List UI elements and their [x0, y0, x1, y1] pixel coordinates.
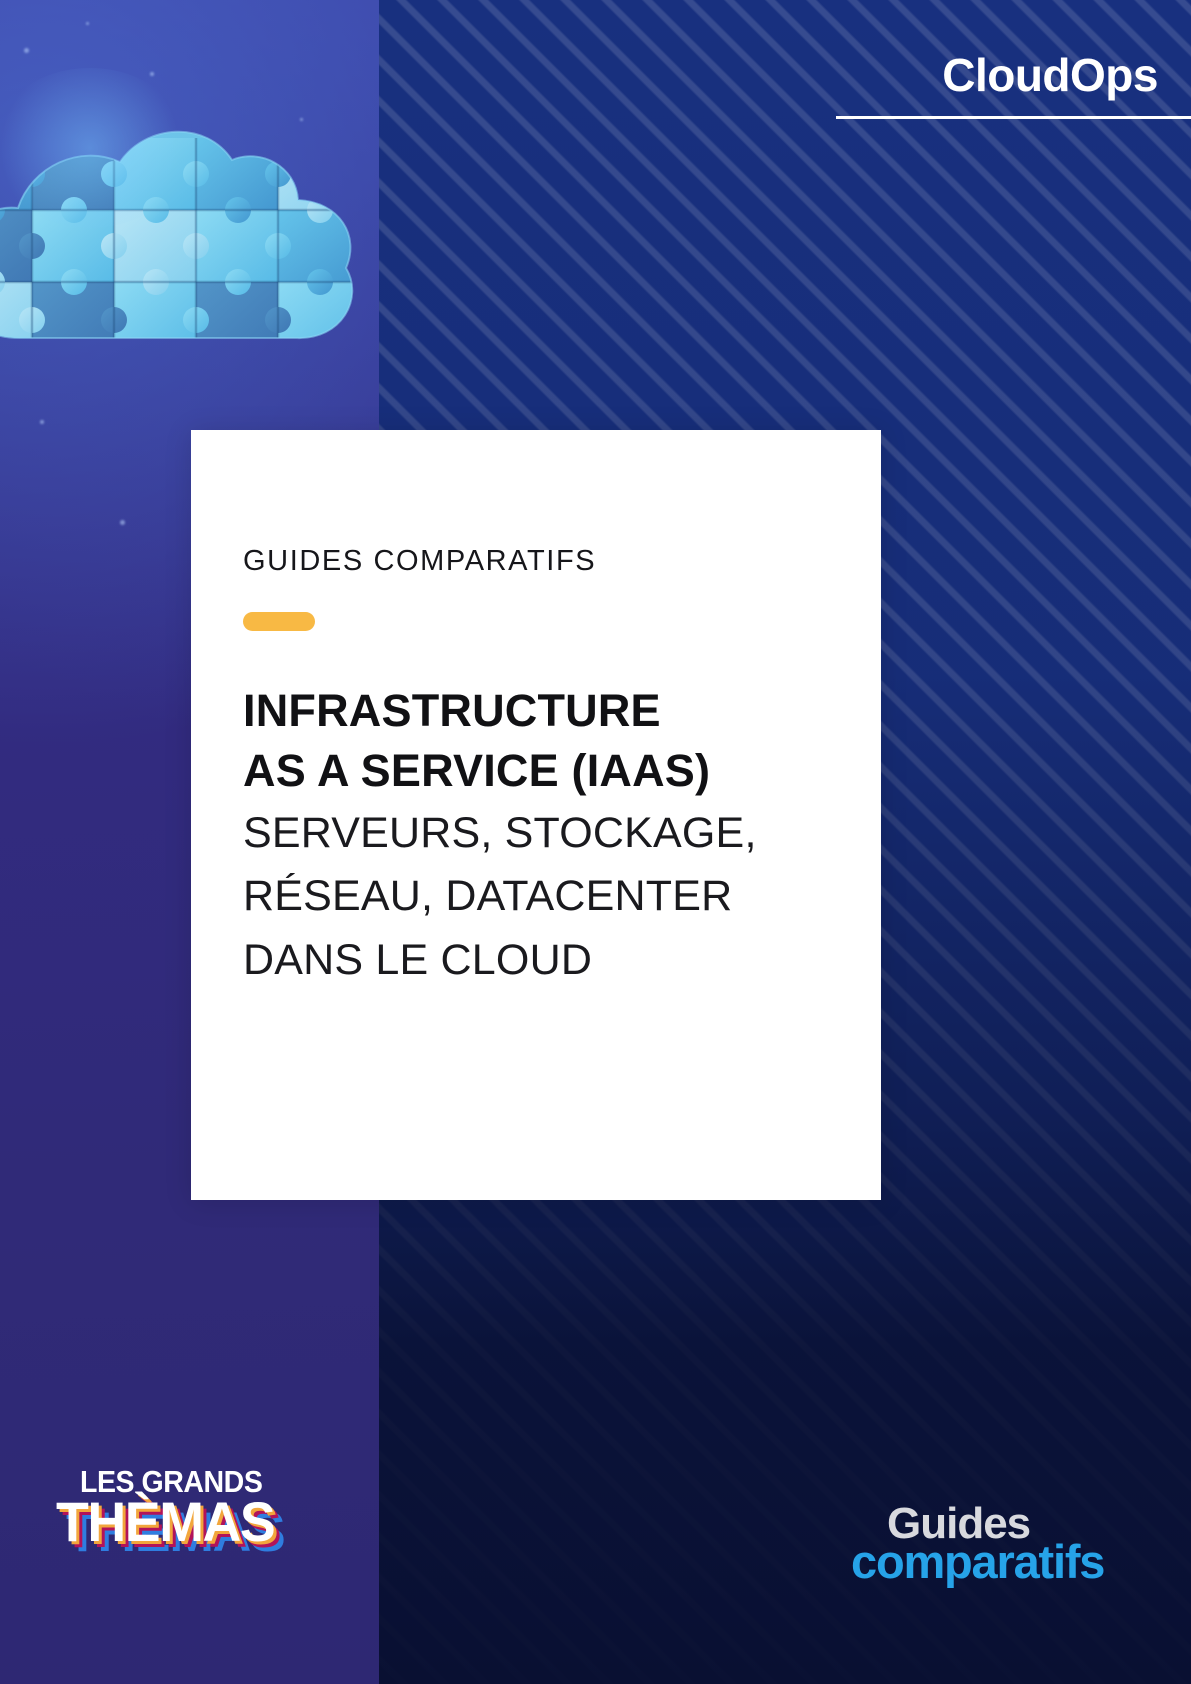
brand-name: CloudOps	[771, 52, 1191, 98]
accent-pill	[243, 612, 315, 631]
subtitle-line-3: DANS LE CLOUD	[243, 929, 851, 993]
title-block: INFRASTRUCTURE AS A SERVICE (IAAS) SERVE…	[243, 681, 851, 992]
themas-badge-line2: THÈMAS	[56, 1494, 274, 1550]
themas-badge-wordmark: THÈMAS THÈMAS THÈMAS THÈMAS	[56, 1494, 306, 1564]
title-card: GUIDES COMPARATIFS INFRASTRUCTURE AS A S…	[191, 430, 881, 1200]
star-speck	[150, 72, 154, 76]
brand-underline-rule	[836, 116, 1191, 119]
star-speck	[24, 48, 29, 53]
title-line-2: AS A SERVICE (IAAS)	[243, 741, 851, 801]
subtitle-line-2: RÉSEAU, DATACENTER	[243, 865, 851, 929]
document-cover-page: CloudOps GUIDES COMPARATIFS INFRASTRUCTU…	[0, 0, 1191, 1684]
star-speck	[86, 22, 89, 25]
card-kicker: GUIDES COMPARATIFS	[243, 545, 851, 578]
star-speck	[120, 520, 125, 525]
cloud-puzzle-illustration	[0, 108, 379, 408]
title-line-1: INFRASTRUCTURE	[243, 681, 851, 741]
les-grands-themas-badge: LES GRANDS THÈMAS THÈMAS THÈMAS THÈMAS	[56, 1466, 306, 1576]
gc-logo-word-comparatifs: comparatifs	[851, 1539, 1151, 1584]
guides-comparatifs-logo: Guides comparatifs	[851, 1503, 1151, 1584]
star-speck	[40, 420, 44, 424]
subtitle-line-1: SERVEURS, STOCKAGE,	[243, 802, 851, 866]
title-card-content: GUIDES COMPARATIFS INFRASTRUCTURE AS A S…	[243, 545, 851, 992]
brand-header: CloudOps	[771, 52, 1191, 119]
